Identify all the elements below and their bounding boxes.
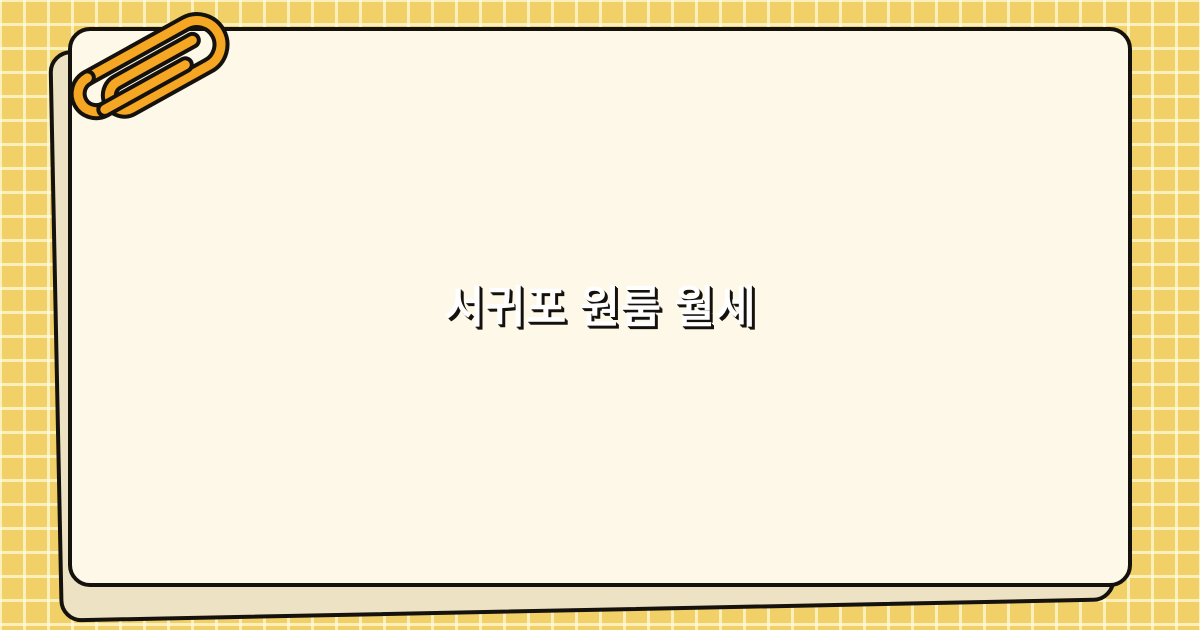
poster-canvas: 서귀포 원룸 월세 (0, 0, 1200, 630)
page-title: 서귀포 원룸 월세 (384, 280, 816, 335)
title-card: 서귀포 원룸 월세 (68, 27, 1132, 587)
